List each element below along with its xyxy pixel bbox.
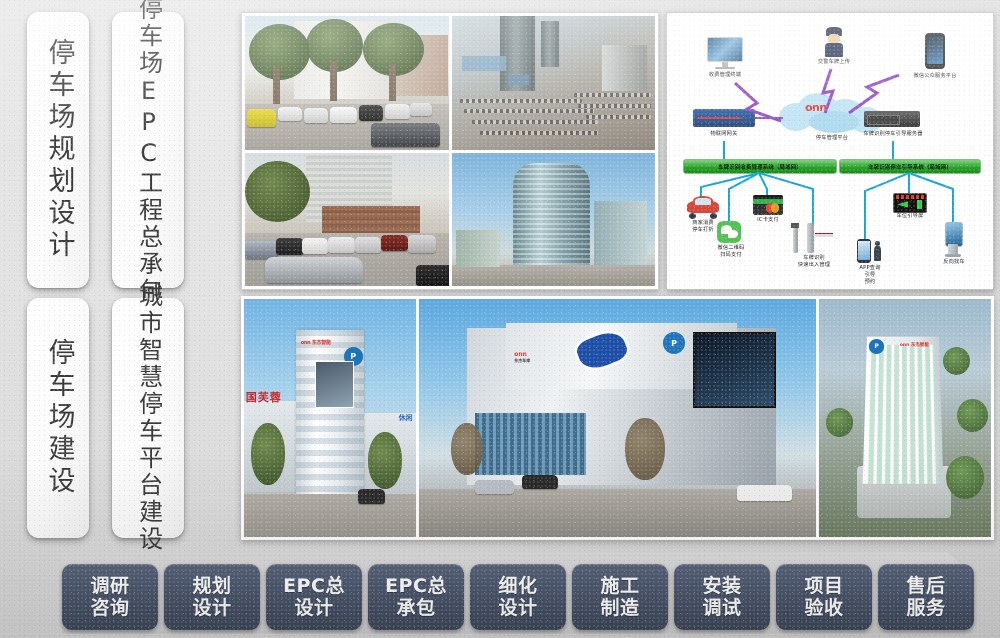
step-line-1: EPC总: [283, 575, 345, 597]
lpr-gate-label: 车牌识别快速出入管理: [783, 255, 845, 269]
process-step-epc-contract[interactable]: EPC总 承包: [368, 564, 464, 630]
system-architecture-diagram: 收费管理终端 交警车牌上传 微信公众服务平台 onn 停车管理平台: [666, 12, 994, 290]
p-sign-icon: P: [869, 339, 884, 353]
led-sign-icon: [893, 193, 927, 213]
process-step-planning[interactable]: 规划 设计: [164, 564, 260, 630]
slide-root: 停车场规划设计 停车场EPC工程总承包 停车场建设 城市智慧停车平台建设: [0, 0, 1000, 638]
process-step-epc-design[interactable]: EPC总 设计: [266, 564, 362, 630]
app-query-guide-label: APP查询引导预约: [843, 265, 897, 285]
service-card-label: 城市智慧停车平台建设: [133, 283, 162, 553]
step-line-2: 承包: [396, 597, 435, 619]
render-logo: onn 东杰车库: [514, 351, 530, 364]
step-line-1: 细化: [498, 575, 537, 597]
step-line-1: 规划: [192, 575, 231, 597]
step-line-2: 制造: [600, 597, 639, 619]
step-line-2: 设计: [294, 597, 333, 619]
step-line-1: 安装: [702, 575, 741, 597]
step-line-1: 项目: [804, 575, 843, 597]
step-line-1: EPC总: [385, 575, 447, 597]
render-logo: onn 东杰智能: [301, 339, 331, 346]
render-tall-white-garage: onn 东杰智能 P 国芙蓉 休闲: [244, 299, 416, 537]
photo-glass-tower: [452, 153, 656, 287]
photo-aerial-parking: [452, 16, 656, 150]
step-line-2: 咨询: [90, 597, 129, 619]
service-card-smart-city-platform[interactable]: 城市智慧停车平台建设: [112, 298, 184, 538]
render-aerial-tower: P onn 东杰智能: [819, 299, 991, 537]
step-line-2: 验收: [804, 597, 843, 619]
process-step-acceptance[interactable]: 项目 验收: [776, 564, 872, 630]
render-modern-garage: P onn 东杰车库: [419, 299, 816, 537]
process-step-construction[interactable]: 施工 制造: [572, 564, 668, 630]
wechat-qr-pay-label: 微信二维码扫码支付: [703, 245, 759, 259]
process-step-installation[interactable]: 安装 调试: [674, 564, 770, 630]
person-icon: [873, 241, 882, 261]
process-step-research[interactable]: 调研 咨询: [62, 564, 158, 630]
service-card-parking-epc-contract[interactable]: 停车场EPC工程总承包: [112, 12, 184, 288]
process-step-after-sales[interactable]: 售后 服务: [878, 564, 974, 630]
kiosk-icon: [943, 221, 963, 257]
process-step-detail-design[interactable]: 细化 设计: [470, 564, 566, 630]
photo-surface-lot-trees: [245, 16, 449, 150]
service-card-label: 停车场建设: [42, 338, 75, 498]
reverse-car-find-label: 反向找车: [929, 259, 979, 266]
step-line-1: 调研: [90, 575, 129, 597]
render-sign-text: 国芙蓉: [246, 389, 282, 405]
ic-card-pay-label: IC卡支付: [745, 217, 791, 224]
step-line-1: 售后: [906, 575, 945, 597]
red-car-icon: [687, 195, 719, 219]
barrier-gate-icon: [791, 223, 833, 253]
photo-lot-brick-building: [245, 153, 449, 287]
service-card-parking-construction[interactable]: 停车场建设: [27, 298, 89, 538]
service-card-label: 停车场EPC工程总承包: [133, 0, 162, 305]
step-line-2: 调试: [702, 597, 741, 619]
space-guide-screen-label: 车位引导屏: [883, 213, 937, 220]
step-line-2: 设计: [498, 597, 537, 619]
app-phone-icon: [857, 239, 871, 263]
render-sign-text: 休闲: [399, 413, 413, 423]
step-line-2: 服务: [906, 597, 945, 619]
photo-grid: [241, 12, 659, 290]
render-logo: onn 东杰智能: [900, 342, 929, 348]
step-line-1: 施工: [600, 575, 639, 597]
credit-card-icon: [753, 195, 783, 215]
process-steps-row: 调研 咨询 规划 设计 EPC总 设计 EPC总 承包 细化 设计 施工 制造 …: [62, 560, 974, 634]
service-card-label: 停车场规划设计: [42, 38, 75, 262]
wechat-icon: [717, 221, 741, 243]
render-strip: onn 东杰智能 P 国芙蓉 休闲 P onn 东杰车库: [241, 296, 994, 540]
step-line-2: 设计: [192, 597, 231, 619]
service-card-parking-planning-design[interactable]: 停车场规划设计: [27, 12, 89, 288]
p-sign-icon: P: [663, 332, 685, 353]
